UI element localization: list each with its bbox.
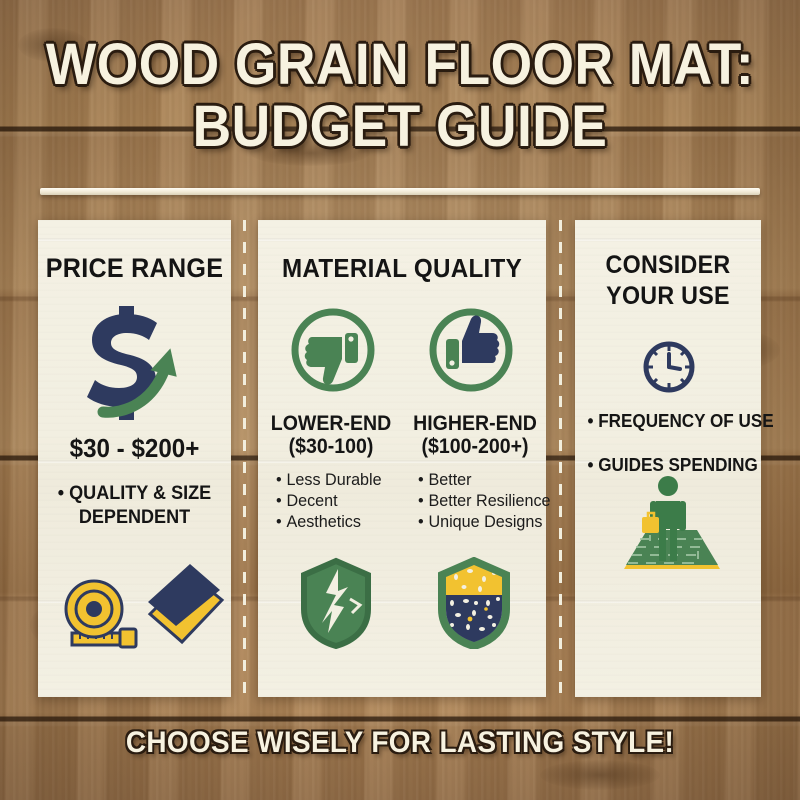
panel-seam (575, 238, 761, 241)
bullet-text: QUALITY & SIZE (69, 483, 211, 504)
heading-line-1: CONSIDER (582, 250, 755, 281)
footer-tagline: CHOOSE WISELY FOR LASTING STYLE! (28, 726, 772, 760)
bullet-marker: • (276, 490, 286, 511)
consider-your-use-bullets: • FREQUENCY OF USE • GUIDES SPENDING (583, 410, 761, 476)
person-on-mat-icon (606, 473, 730, 583)
panel-seam (258, 460, 546, 463)
price-range-bullets: • QUALITY & SIZE DEPENDENT (38, 482, 231, 530)
bullet-line: • FREQUENCY OF USE (587, 410, 756, 432)
column-consider-your-use: CONSIDER YOUR USE • FREQUEN (575, 220, 761, 697)
bullet-marker: • (418, 511, 428, 532)
cracked-shield-icon (298, 557, 374, 649)
column-material-quality: MATERIAL QUALITY (258, 220, 546, 697)
bullet-text: Better (428, 470, 471, 489)
bullet-marker: • (276, 469, 286, 490)
bullet-text: Better Resilience (428, 491, 550, 510)
bullet-line: •Less Durable (276, 469, 401, 490)
column-divider-2 (559, 220, 562, 697)
bullet-text: Decent (286, 491, 337, 510)
higher-end-line-1: HIGHER-END (413, 412, 538, 435)
bullet-text: Aesthetics (286, 512, 361, 531)
lower-end-line-1: LOWER-END (269, 412, 394, 435)
clock-icon (641, 339, 697, 395)
column-divider-1 (243, 220, 246, 697)
bullet-marker: • (418, 469, 428, 490)
page-title: WOOD GRAIN FLOOR MAT: BUDGET GUIDE (0, 34, 800, 158)
panel-seam (575, 600, 761, 603)
infographic-poster: WOOD GRAIN FLOOR MAT: BUDGET GUIDE PRICE… (0, 0, 800, 800)
column-price-range: PRICE RANGE $30 - $200+ • QUALITY & SIZE (38, 220, 231, 697)
lower-end-line-2: ($30-100) (269, 435, 394, 458)
higher-end-label: HIGHER-END ($100-200+) (408, 412, 542, 458)
lower-end-label: LOWER-END ($30-100) (264, 412, 398, 458)
bullet-marker: • (418, 490, 428, 511)
price-range-value: $30 - $200+ (45, 433, 224, 464)
higher-end-line-2: ($100-200+) (413, 435, 538, 458)
heading-line-2: YOUR USE (582, 281, 755, 312)
ruler-square-icon (146, 562, 226, 652)
title-line-2: BUDGET GUIDE (32, 96, 768, 158)
bullet-line: •Decent (276, 490, 401, 511)
panel-seam (38, 238, 231, 241)
bullet-line: DEPENDENT (43, 506, 226, 530)
bullet-line: •Better (418, 469, 551, 490)
title-divider-rule (40, 188, 760, 195)
bullet-marker: • (58, 483, 69, 504)
higher-end-bullets: •Better •Better Resilience •Unique Desig… (418, 469, 551, 532)
column-heading-price-range: PRICE RANGE (45, 253, 224, 284)
thumbs-up-circle-icon (426, 305, 516, 395)
title-line-1: WOOD GRAIN FLOOR MAT: (32, 34, 768, 96)
thumbs-down-circle-icon (288, 305, 378, 395)
bullet-text: FREQUENCY OF USE (598, 411, 773, 431)
bullet-text: Less Durable (286, 470, 381, 489)
bullet-marker: • (587, 411, 598, 431)
bullet-text: DEPENDENT (79, 507, 190, 528)
wood-knot (540, 760, 660, 790)
bullet-line: • QUALITY & SIZE (43, 482, 226, 506)
bullet-marker: • (587, 455, 598, 475)
column-heading-material-quality: MATERIAL QUALITY (268, 253, 536, 284)
panel-seam (258, 238, 546, 241)
bullet-line: •Aesthetics (276, 511, 401, 532)
bullet-line: •Unique Designs (418, 511, 551, 532)
tape-measure-icon (64, 575, 154, 649)
dollar-sign-rising-arrow-icon (79, 304, 191, 422)
lower-end-bullets: •Less Durable •Decent •Aesthetics (276, 469, 401, 532)
bullet-text: Unique Designs (428, 512, 542, 531)
column-heading-consider-your-use: CONSIDER YOUR USE (575, 250, 761, 312)
bullet-line: •Better Resilience (418, 490, 551, 511)
bullet-text: GUIDES SPENDING (598, 455, 758, 475)
bullet-marker: • (276, 511, 286, 532)
speckled-shield-icon (436, 557, 512, 649)
